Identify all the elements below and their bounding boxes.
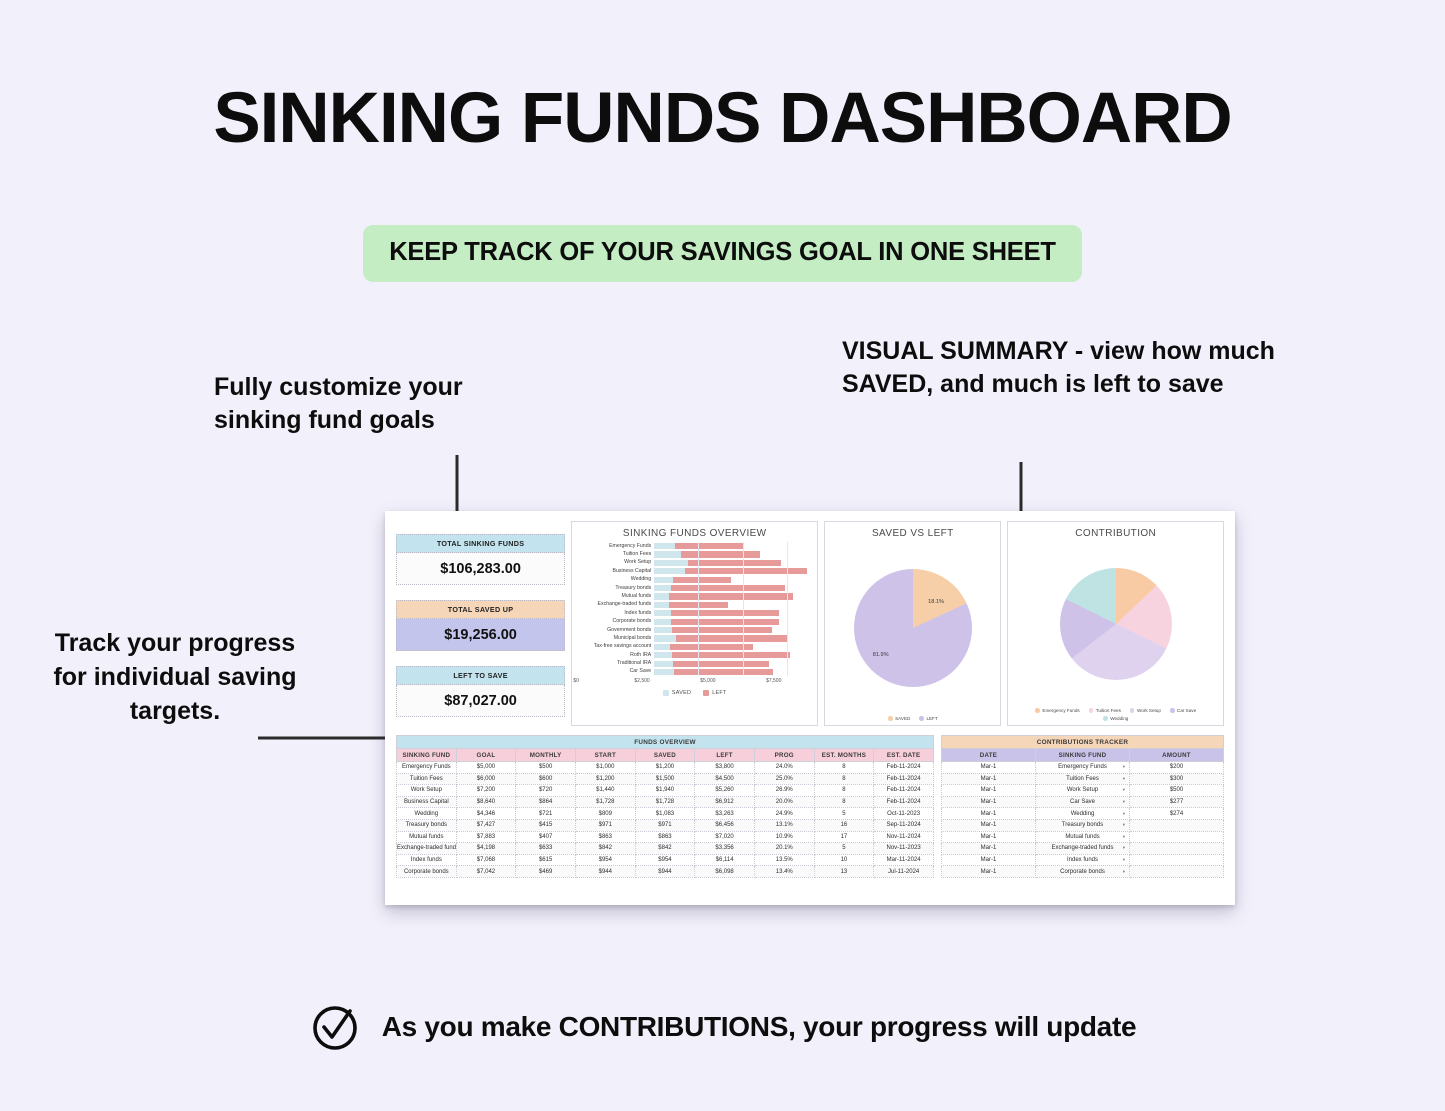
table-row: Mar-1Mutual funds▾ (942, 831, 1224, 843)
table-cell: $274 (1130, 808, 1224, 820)
table-cell: $500 (516, 762, 576, 774)
table-cell: $3,263 (695, 808, 755, 820)
funds-table-body: Emergency Funds$5,000$500$1,000$1,200$3,… (397, 762, 934, 878)
table-cell: $6,098 (695, 866, 755, 878)
chevron-down-icon[interactable]: ▾ (1123, 857, 1125, 863)
bar-row: Corporate bonds (578, 618, 813, 626)
table-row: Exchange-traded funds$4,198$633$842$842$… (397, 843, 934, 855)
table-cell: Mar-1 (942, 831, 1036, 843)
table-row: Corporate bonds$7,042$469$944$944$6,0981… (397, 866, 934, 878)
table-row: Treasury bonds$7,427$415$971$971$6,45613… (397, 819, 934, 831)
table-cell: $615 (516, 854, 576, 866)
page-title: SINKING FUNDS DASHBOARD (0, 78, 1445, 159)
bar-segment-left (674, 669, 773, 675)
bar-segment-saved (654, 619, 671, 625)
bar-segment-left (681, 551, 761, 557)
table-cell: $200 (1130, 762, 1224, 774)
column-header: PROG (754, 749, 814, 762)
table-cell: $8,640 (456, 796, 516, 808)
table-row: Mar-1Treasury bonds▾ (942, 819, 1224, 831)
dashboard-bottom-row: FUNDS OVERVIEW SINKING FUNDGOALMONTHLYST… (396, 735, 1224, 878)
legend-swatch (888, 716, 893, 721)
bar-segment-saved (654, 661, 673, 667)
table-cell: 5 (814, 843, 874, 855)
table-row: Mar-1Work Setup▾$500 (942, 785, 1224, 797)
bar-segment-saved (654, 543, 675, 549)
dashboard-top-row: TOTAL SINKING FUNDS $106,283.00 TOTAL SA… (396, 521, 1224, 726)
kpi-value: $106,283.00 (396, 553, 565, 585)
pie-slice-label-saved: 18.1% (928, 599, 944, 605)
legend-label: Emergency Funds (1042, 708, 1079, 713)
chart-title: SINKING FUNDS OVERVIEW (576, 528, 813, 539)
legend-item: SAVED (663, 690, 691, 696)
table-cell: Mar-1 (942, 843, 1036, 855)
table-cell: $863 (575, 831, 635, 843)
table-cell: $277 (1130, 796, 1224, 808)
bar-category-label: Roth IRA (578, 653, 654, 658)
table-cell: $407 (516, 831, 576, 843)
legend-item: LEFT (703, 690, 726, 696)
dropdown-cell[interactable]: Wedding▾ (1036, 808, 1130, 820)
bar-track (654, 567, 813, 575)
x-tick-label: $5,000 (700, 678, 715, 684)
legend-swatch (1130, 708, 1135, 713)
table-row: Wedding$4,346$721$809$1,083$3,26324.9%5O… (397, 808, 934, 820)
bar-segment-saved (654, 551, 681, 557)
table-cell: $7,042 (456, 866, 516, 878)
dashboard-screenshot: TOTAL SINKING FUNDS $106,283.00 TOTAL SA… (385, 511, 1235, 905)
legend-item: Emergency Funds (1035, 708, 1079, 713)
kpi-left-to-save: LEFT TO SAVE $87,027.00 (396, 666, 565, 717)
bar-track (654, 559, 813, 567)
table-cell: Feb-11-2024 (874, 796, 934, 808)
column-header: DATE (942, 749, 1036, 762)
legend-swatch (703, 690, 709, 696)
bar-segment-left (670, 644, 753, 650)
pie1-legend: SAVEDLEFT (829, 716, 996, 722)
gridline (743, 542, 744, 676)
table-cell: $1,728 (635, 796, 695, 808)
bar-segment-saved (654, 560, 688, 566)
table-cell: 16 (814, 819, 874, 831)
table-cell: Index funds (397, 854, 457, 866)
table-row: Tuition Fees$6,000$600$1,200$1,500$4,500… (397, 773, 934, 785)
table-banner: CONTRIBUTIONS TRACKER (942, 736, 1224, 749)
bar-segment-saved (654, 627, 671, 633)
column-header: EST. DATE (874, 749, 934, 762)
dropdown-cell[interactable]: Tuition Fees▾ (1036, 773, 1130, 785)
bar-category-label: Government bonds (578, 628, 654, 633)
table-cell (1130, 831, 1224, 843)
pie-saved-vs-left: 18.1% 81.9% (854, 569, 972, 687)
bar-track (654, 592, 813, 600)
bar-segment-left (675, 543, 742, 549)
table-cell: $3,800 (695, 762, 755, 774)
bar-category-label: Wedding (578, 577, 654, 582)
chart-title: CONTRIBUTION (1012, 528, 1219, 539)
table-cell: $5,260 (695, 785, 755, 797)
table-cell: $720 (516, 785, 576, 797)
legend-swatch (1170, 708, 1175, 713)
legend-label: Tuition Fees (1096, 708, 1121, 713)
bar-row: Business Capital (578, 567, 813, 575)
kpi-column: TOTAL SINKING FUNDS $106,283.00 TOTAL SA… (396, 521, 565, 726)
bar-segment-saved (654, 577, 673, 583)
pie-contribution (1060, 568, 1172, 680)
bar-category-label: Index funds (578, 611, 654, 616)
table-row: Mar-1Exchange-traded funds▾ (942, 843, 1224, 855)
bar-segment-left (672, 627, 773, 633)
x-tick-label: $7,500 (766, 678, 781, 684)
kpi-total-saved-up: TOTAL SAVED UP $19,256.00 (396, 600, 565, 651)
table-cell: $954 (575, 854, 635, 866)
table-cell: $1,728 (575, 796, 635, 808)
chevron-down-icon[interactable]: ▾ (1123, 834, 1125, 840)
column-header: SINKING FUND (397, 749, 457, 762)
table-cell: $300 (1130, 773, 1224, 785)
column-header: GOAL (456, 749, 516, 762)
bar-track (654, 634, 813, 642)
table-cell: $6,456 (695, 819, 755, 831)
table-cell: $1,940 (635, 785, 695, 797)
bar-row: Emergency Funds (578, 542, 813, 550)
table-cell: $7,068 (456, 854, 516, 866)
bar-track (654, 550, 813, 558)
table-cell: $4,346 (456, 808, 516, 820)
table-cell: $4,198 (456, 843, 516, 855)
table-cell: Mar-1 (942, 819, 1036, 831)
legend-label: SAVED (672, 690, 691, 696)
chart-contribution: CONTRIBUTION Emergency FundsTuition Fees… (1007, 521, 1224, 726)
table-cell: 13.5% (754, 854, 814, 866)
bar-row: Government bonds (578, 626, 813, 634)
bar-row: Traditional IRA (578, 659, 813, 667)
table-cell: 24.0% (754, 762, 814, 774)
bar-track (654, 618, 813, 626)
table-row: Mar-1Index funds▾ (942, 854, 1224, 866)
table-cell: 13.1% (754, 819, 814, 831)
bar-category-label: Car Save (578, 669, 654, 674)
table-cell: Nov-11-2024 (874, 831, 934, 843)
table-cell: Mar-11-2024 (874, 854, 934, 866)
chevron-down-icon[interactable]: ▾ (1123, 787, 1125, 793)
bar-category-label: Tuition Fees (578, 552, 654, 557)
bar-segment-saved (654, 568, 685, 574)
bar-segment-left (671, 585, 785, 591)
bar-segment-left (688, 560, 781, 566)
bar-category-label: Traditional IRA (578, 661, 654, 666)
poster-page: SINKING FUNDS DASHBOARD KEEP TRACK OF YO… (0, 0, 1445, 1111)
table-cell: $1,000 (575, 762, 635, 774)
table-cell: Mar-1 (942, 773, 1036, 785)
bar-category-label: Mutual funds (578, 594, 654, 599)
dropdown-cell[interactable]: Emergency Funds▾ (1036, 762, 1130, 774)
table-cell: 10.9% (754, 831, 814, 843)
bar-segment-left (672, 652, 790, 658)
table-cell: $7,200 (456, 785, 516, 797)
table-row: Mar-1Car Save▾$277 (942, 796, 1224, 808)
table-cell: $7,427 (456, 819, 516, 831)
table-cell: 24.9% (754, 808, 814, 820)
table-cell: $1,440 (575, 785, 635, 797)
bar-category-label: Emergency Funds (578, 544, 654, 549)
table-cell: 8 (814, 785, 874, 797)
legend-swatch (663, 690, 669, 696)
dropdown-cell[interactable]: Work Setup▾ (1036, 785, 1130, 797)
table-cell: Exchange-traded funds (397, 843, 457, 855)
chart-sinking-funds-overview: SINKING FUNDS OVERVIEW Emergency FundsTu… (571, 521, 818, 726)
table-cell: $1,083 (635, 808, 695, 820)
bar-row: Municipal bonds (578, 634, 813, 642)
table-cell: $6,114 (695, 854, 755, 866)
table-row: Mar-1Wedding▾$274 (942, 808, 1224, 820)
table-cell (1130, 866, 1224, 878)
legend-item: SAVED (888, 716, 910, 721)
legend-label: SAVED (895, 716, 910, 721)
dropdown-cell[interactable]: Index funds▾ (1036, 854, 1130, 866)
table-cell: $842 (635, 843, 695, 855)
table-cell: Nov-11-2023 (874, 843, 934, 855)
pie-slice-label-left: 81.9% (873, 652, 889, 658)
table-row: Index funds$7,068$615$954$954$6,11413.5%… (397, 854, 934, 866)
column-header: SINKING FUND (1036, 749, 1130, 762)
bar-track (654, 643, 813, 651)
table-cell: 20.1% (754, 843, 814, 855)
chevron-down-icon[interactable]: ▾ (1123, 845, 1125, 851)
bar-segment-left (673, 661, 769, 667)
table-cell: $1,500 (635, 773, 695, 785)
bar-track (654, 601, 813, 609)
table-cell: $944 (635, 866, 695, 878)
bar-segment-saved (654, 593, 669, 599)
chevron-down-icon[interactable]: ▾ (1123, 822, 1125, 828)
column-header: AMOUNT (1130, 749, 1224, 762)
table-cell: $3,356 (695, 843, 755, 855)
kpi-value: $19,256.00 (396, 619, 565, 651)
table-cell: Mar-1 (942, 854, 1036, 866)
table-cell: Corporate bonds (397, 866, 457, 878)
bar-segment-left (671, 610, 779, 616)
kpi-label: LEFT TO SAVE (396, 666, 565, 685)
table-cell: Mar-1 (942, 808, 1036, 820)
bar-track (654, 626, 813, 634)
table-cell: $971 (635, 819, 695, 831)
dropdown-cell[interactable]: Car Save▾ (1036, 796, 1130, 808)
bar-segment-left (671, 619, 779, 625)
table-cell: $1,200 (575, 773, 635, 785)
x-tick-label: $2,500 (634, 678, 649, 684)
table-row: Mar-1Tuition Fees▾$300 (942, 773, 1224, 785)
table-cell: $500 (1130, 785, 1224, 797)
table-cell: $5,000 (456, 762, 516, 774)
table-cell (1130, 843, 1224, 855)
table-cell: $7,883 (456, 831, 516, 843)
table-cell: $6,912 (695, 796, 755, 808)
table-row: Work Setup$7,200$720$1,440$1,940$5,26026… (397, 785, 934, 797)
legend-swatch (1035, 708, 1040, 713)
legend-item: Work Setup (1130, 708, 1161, 713)
contributions-tracker-table: CONTRIBUTIONS TRACKER DATESINKING FUNDAM… (941, 735, 1224, 878)
table-cell: Mar-1 (942, 785, 1036, 797)
bar-row: Tuition Fees (578, 550, 813, 558)
dropdown-cell[interactable]: Mutual funds▾ (1036, 831, 1130, 843)
chevron-down-icon[interactable]: ▾ (1123, 764, 1125, 770)
table-cell: Jul-11-2024 (874, 866, 934, 878)
dropdown-cell[interactable]: Corporate bonds▾ (1036, 866, 1130, 878)
dropdown-cell[interactable]: Treasury bonds▾ (1036, 819, 1130, 831)
table-cell: 13.4% (754, 866, 814, 878)
table-cell: Mar-1 (942, 762, 1036, 774)
table-cell: $469 (516, 866, 576, 878)
legend-item: LEFT (919, 716, 937, 721)
legend-label: LEFT (926, 716, 937, 721)
legend-item: Wedding (1103, 716, 1128, 721)
bar-chart-body: Emergency FundsTuition FeesWork SetupBus… (576, 542, 813, 722)
kpi-total-sinking-funds: TOTAL SINKING FUNDS $106,283.00 (396, 534, 565, 585)
bar-row: Index funds (578, 609, 813, 617)
bar-track (654, 651, 813, 659)
bar-segment-saved (654, 669, 673, 675)
table-cell: Feb-11-2024 (874, 762, 934, 774)
bar-segment-saved (654, 635, 676, 641)
table-cell: Wedding (397, 808, 457, 820)
bar-category-label: Municipal bonds (578, 636, 654, 641)
bar-segment-saved (654, 610, 671, 616)
bar-category-label: Tax-free savings account (578, 644, 654, 649)
footer: As you make CONTRIBUTIONS, your progress… (0, 1001, 1445, 1053)
table-banner-row: FUNDS OVERVIEW (397, 736, 934, 749)
pie-area: 18.1% 81.9% (829, 542, 996, 714)
bar-chart-plot: Emergency FundsTuition FeesWork SetupBus… (576, 542, 813, 676)
table-cell: Tuition Fees (397, 773, 457, 785)
kpi-value: $87,027.00 (396, 685, 565, 717)
callout-visual-summary: VISUAL SUMMARY - view how much SAVED, an… (842, 335, 1342, 401)
bar-row: Wedding (578, 576, 813, 584)
legend-swatch (1103, 716, 1108, 721)
bar-segment-left (669, 593, 793, 599)
kpi-label: TOTAL SAVED UP (396, 600, 565, 619)
bar-segment-saved (654, 644, 670, 650)
table-row: Mar-1Corporate bonds▾ (942, 866, 1224, 878)
legend-label: Wedding (1110, 716, 1128, 721)
table-cell: 8 (814, 762, 874, 774)
table-cell: $1,200 (635, 762, 695, 774)
legend-item: Car Save (1170, 708, 1196, 713)
column-header: EST. MONTHS (814, 749, 874, 762)
pie2-legend: Emergency FundsTuition FeesWork SetupCar… (1012, 708, 1219, 722)
bar-segment-left (673, 577, 731, 583)
kpi-label: TOTAL SINKING FUNDS (396, 534, 565, 553)
table-cell: $842 (575, 843, 635, 855)
bar-segment-saved (654, 652, 672, 658)
bar-segment-left (685, 568, 807, 574)
contributions-table-body: Mar-1Emergency Funds▾$200Mar-1Tuition Fe… (942, 762, 1224, 878)
table-cell: $864 (516, 796, 576, 808)
subtitle-banner: KEEP TRACK OF YOUR SAVINGS GOAL IN ONE S… (363, 225, 1082, 282)
bar-segment-left (676, 635, 786, 641)
bar-category-label: Treasury bonds (578, 586, 654, 591)
legend-swatch (1089, 708, 1094, 713)
bar-track (654, 668, 813, 676)
table-row: Business Capital$8,640$864$1,728$1,728$6… (397, 796, 934, 808)
column-header: SAVED (635, 749, 695, 762)
table-cell: 25.0% (754, 773, 814, 785)
bar-track (654, 542, 813, 550)
bar-track (654, 576, 813, 584)
table-cell: $600 (516, 773, 576, 785)
callout-customize: Fully customize your sinking fund goals (214, 371, 544, 437)
bar-category-label: Exchange-traded funds (578, 602, 654, 607)
table-cell: 10 (814, 854, 874, 866)
table-cell: Treasury bonds (397, 819, 457, 831)
table-cell: Mutual funds (397, 831, 457, 843)
table-cell: $7,020 (695, 831, 755, 843)
table-cell: $863 (635, 831, 695, 843)
chart-saved-vs-left: SAVED VS LEFT 18.1% 81.9% SAVEDLEFT (824, 521, 1001, 726)
table-cell: 13 (814, 866, 874, 878)
table-cell: Oct-11-2023 (874, 808, 934, 820)
table-cell: Sep-11-2024 (874, 819, 934, 831)
table-cell: $971 (575, 819, 635, 831)
bar-track (654, 659, 813, 667)
bar-segment-saved (654, 602, 669, 608)
table-cell: $944 (575, 866, 635, 878)
table-cell (1130, 819, 1224, 831)
table-cell: $6,000 (456, 773, 516, 785)
check-circle-icon (309, 1001, 361, 1053)
table-cell: $809 (575, 808, 635, 820)
gridline (787, 542, 788, 676)
legend-swatch (919, 716, 924, 721)
funds-overview-table: FUNDS OVERVIEW SINKING FUNDGOALMONTHLYST… (396, 735, 934, 878)
table-cell: Mar-1 (942, 866, 1036, 878)
table-cell: 26.9% (754, 785, 814, 797)
column-header: LEFT (695, 749, 755, 762)
chevron-down-icon[interactable]: ▾ (1123, 869, 1125, 875)
chevron-down-icon[interactable]: ▾ (1123, 776, 1125, 782)
dropdown-cell[interactable]: Exchange-traded funds▾ (1036, 843, 1130, 855)
column-header: MONTHLY (516, 749, 576, 762)
table-cell: 20.0% (754, 796, 814, 808)
bar-track (654, 609, 813, 617)
table-cell: Business Capital (397, 796, 457, 808)
footer-text: As you make CONTRIBUTIONS, your progress… (382, 1011, 1137, 1043)
table-banner: FUNDS OVERVIEW (397, 736, 934, 749)
bar-segment-saved (654, 585, 671, 591)
callout-track-progress: Track your progress for individual savin… (35, 626, 315, 728)
bar-category-label: Corporate bonds (578, 619, 654, 624)
bar-category-label: Business Capital (578, 569, 654, 574)
table-column-header-row: DATESINKING FUNDAMOUNT (942, 749, 1224, 762)
table-cell: Mar-1 (942, 796, 1036, 808)
table-cell: $721 (516, 808, 576, 820)
table-row: Mar-1Emergency Funds▾$200 (942, 762, 1224, 774)
bar-row: Mutual funds (578, 592, 813, 600)
chevron-down-icon[interactable]: ▾ (1123, 799, 1125, 805)
gridline (698, 542, 699, 676)
table-cell: 8 (814, 773, 874, 785)
bar-row: Roth IRA (578, 651, 813, 659)
bar-chart-legend: SAVEDLEFT (576, 690, 813, 696)
table-row: Mutual funds$7,883$407$863$863$7,02010.9… (397, 831, 934, 843)
table-cell: $4,500 (695, 773, 755, 785)
chevron-down-icon[interactable]: ▾ (1123, 811, 1125, 817)
column-header: START (575, 749, 635, 762)
bar-row: Car Save (578, 668, 813, 676)
legend-label: LEFT (712, 690, 726, 696)
table-column-header-row: SINKING FUNDGOALMONTHLYSTARTSAVEDLEFTPRO… (397, 749, 934, 762)
table-cell: Emergency Funds (397, 762, 457, 774)
